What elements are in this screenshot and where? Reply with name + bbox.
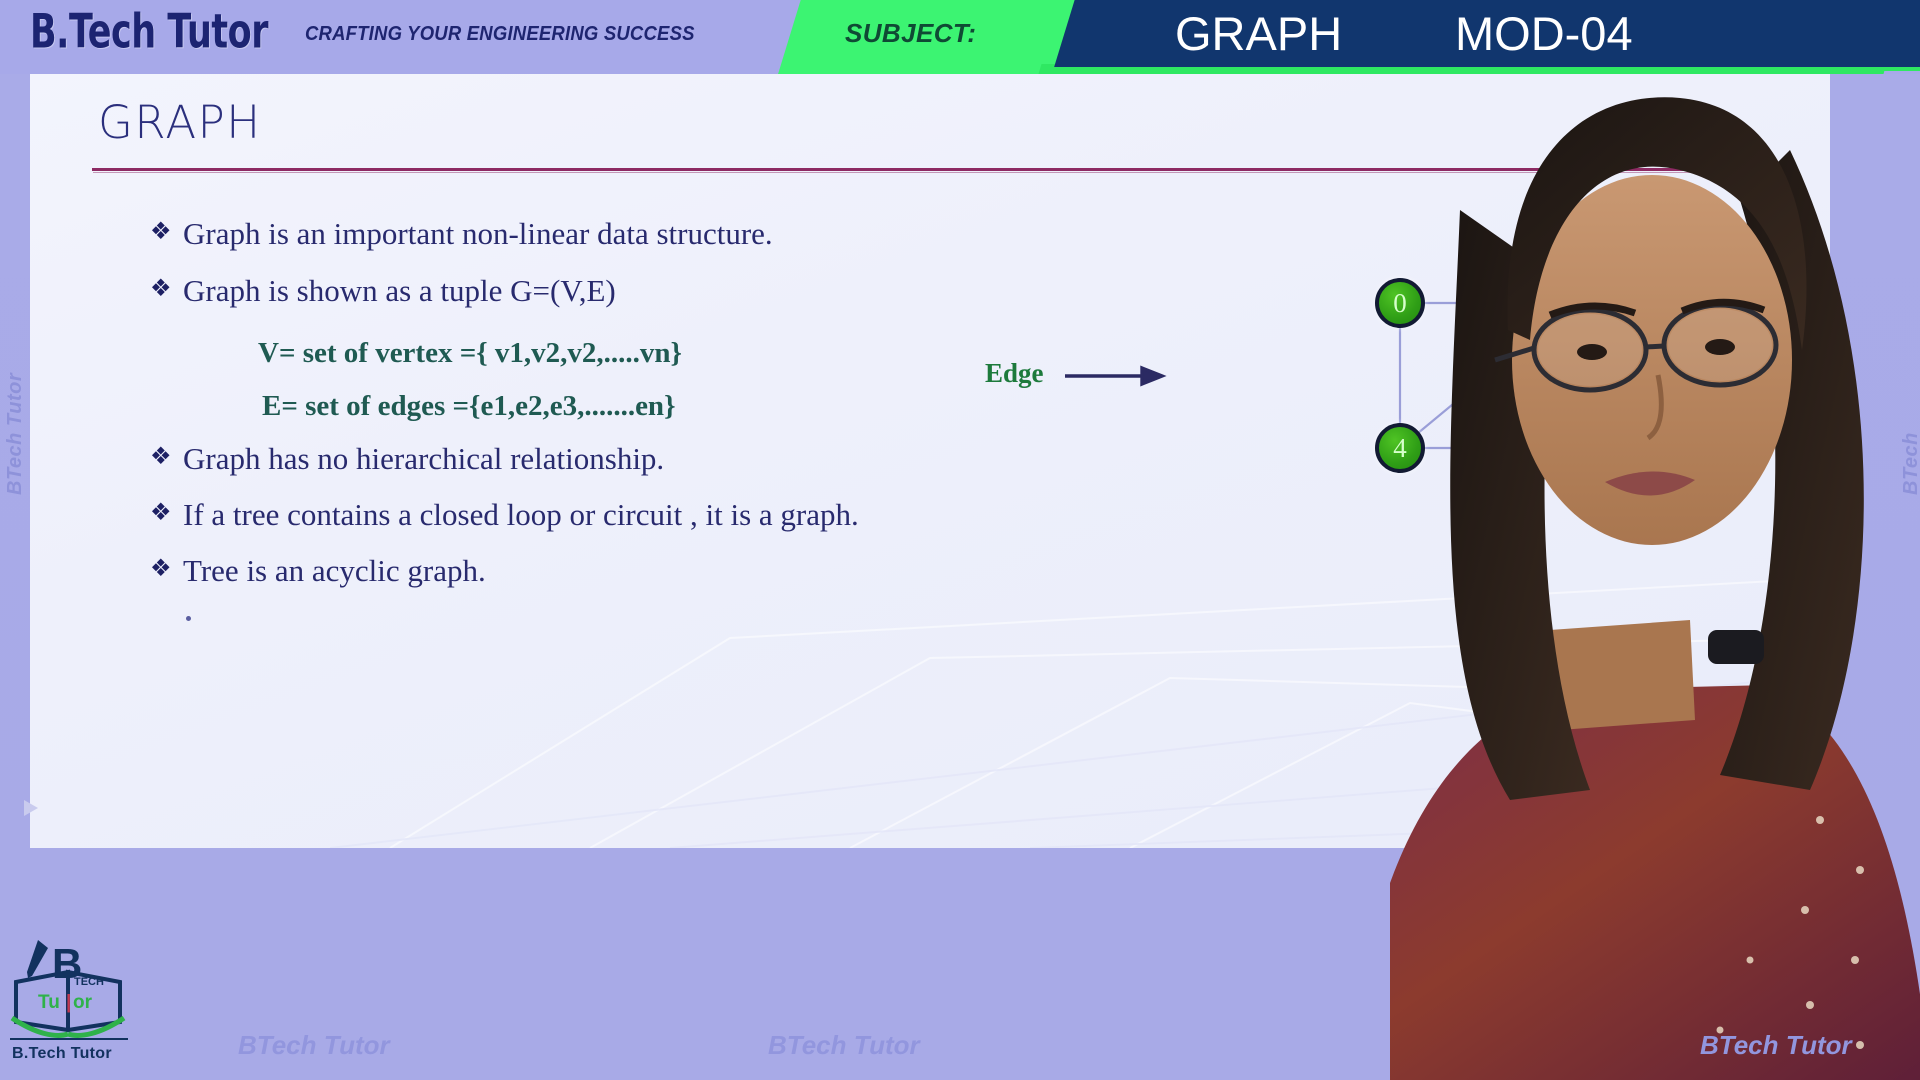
bullet-marker-icon: ❖ <box>150 557 172 581</box>
bullet-text: If a tree contains a closed loop or circ… <box>183 497 859 532</box>
bullet-marker-icon: ❖ <box>150 220 172 244</box>
watermark-footer-1: BTech Tutor <box>238 1030 390 1061</box>
page-title: GRAPH <box>98 96 262 149</box>
bullet-text: Graph has no hierarchical relationship. <box>183 441 664 476</box>
presenter-figure <box>1390 30 1920 1080</box>
svg-text:or: or <box>73 992 93 1013</box>
svg-text:|: | <box>66 992 71 1013</box>
bullet-marker-icon: ❖ <box>150 501 172 525</box>
svg-text:Tu: Tu <box>38 992 60 1013</box>
list-item: ❖ Graph is an important non-linear data … <box>150 218 773 249</box>
edge-set-line: E= set of edges ={e1,e2,e3,.......en} <box>262 390 676 423</box>
book-logo-icon: B TECH Tu | or <box>8 930 138 1050</box>
edge-label: Edge <box>985 358 1044 389</box>
bullet-text: Tree is an acyclic graph. <box>183 553 486 588</box>
brand-title: B.Tech Tutor <box>30 4 268 59</box>
logo-divider <box>10 1038 128 1040</box>
bullet-text: Graph is an important non-linear data st… <box>183 216 773 251</box>
list-item: ❖ If a tree contains a closed loop or ci… <box>150 499 859 530</box>
presenter-video <box>1390 30 1920 1080</box>
logo-caption: B.Tech Tutor <box>12 1045 112 1063</box>
vertex-set-line: V= set of vertex ={ v1,v2,v2,.....vn} <box>258 337 682 370</box>
bullet-marker-icon: ❖ <box>150 277 172 301</box>
watermark-footer-2: BTech Tutor <box>768 1030 920 1061</box>
stray-dot <box>186 616 191 621</box>
list-item: ❖ Tree is an acyclic graph. <box>150 555 486 586</box>
subject-label: SUBJECT: <box>845 18 976 49</box>
brand-tagline: CRAFTING YOUR ENGINEERING SUCCESS <box>305 21 695 46</box>
watermark-right: BTech Tutor <box>1900 432 1920 495</box>
watermark-footer-3: BTech Tutor <box>1700 1030 1852 1061</box>
module-badge: MOD-04 <box>1455 6 1633 61</box>
bullet-text: Graph is shown as a tuple G=(V,E) <box>183 273 616 308</box>
bullet-marker-icon: ❖ <box>150 445 172 469</box>
list-item: ❖ Graph has no hierarchical relationship… <box>150 443 664 474</box>
watermark-left: BTech Tutor <box>4 373 27 495</box>
edge-callout-arrow <box>1065 368 1162 384</box>
list-item: ❖ Graph is shown as a tuple G=(V,E) <box>150 275 616 306</box>
screen-root: GRAPH ❖ Graph is an important non-linear… <box>0 0 1920 1080</box>
subject-value: GRAPH <box>1175 6 1342 61</box>
svg-text:TECH: TECH <box>74 976 104 988</box>
